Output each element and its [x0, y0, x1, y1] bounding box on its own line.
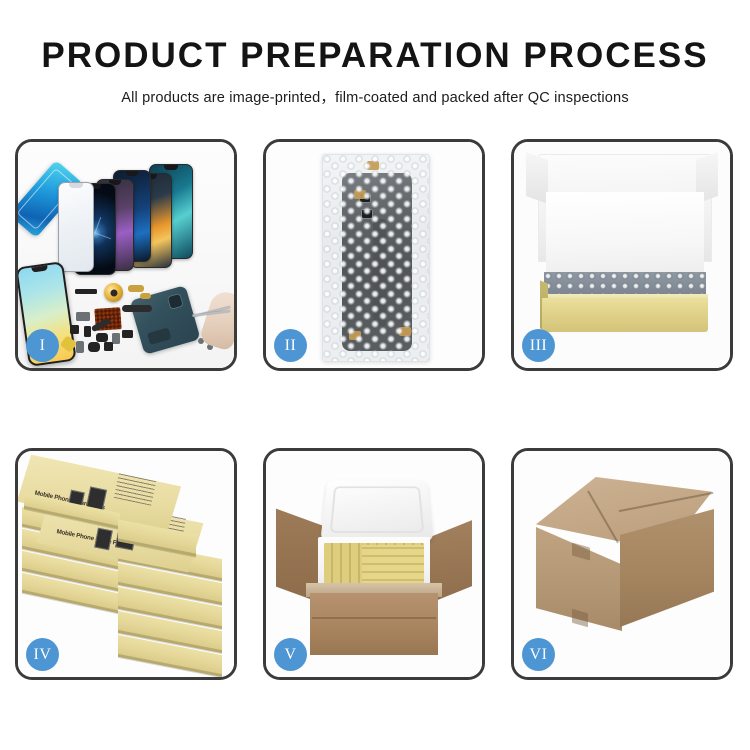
process-step-4[interactable]: Mobile Phone Spare Parts Mobile Phone Sp…: [15, 448, 237, 680]
spare-part: [122, 305, 152, 312]
step-badge-3: III: [522, 329, 555, 362]
foam-insert: [546, 192, 704, 276]
step-badge-1: I: [26, 329, 59, 362]
spare-part: [76, 341, 84, 353]
spare-part: [112, 333, 120, 344]
process-step-2[interactable]: II: [263, 139, 485, 371]
gold-coil-part: [104, 283, 123, 302]
spare-part: [76, 312, 90, 321]
page-header: PRODUCT PREPARATION PROCESS All products…: [0, 0, 750, 107]
spare-part: [70, 325, 79, 334]
spare-part: [128, 285, 144, 292]
step-badge-2: II: [274, 329, 307, 362]
tweezers-icon: [190, 298, 232, 332]
process-step-1[interactable]: I: [15, 139, 237, 371]
page-title: PRODUCT PREPARATION PROCESS: [0, 38, 750, 75]
box-flap-left: [526, 152, 548, 204]
carton-seam: [312, 617, 436, 619]
process-step-5[interactable]: V: [263, 448, 485, 680]
process-step-3[interactable]: III: [511, 139, 733, 371]
bubble-texture: [323, 155, 429, 361]
kraft-inner-box: [542, 298, 708, 332]
page-subtitle: All products are image-printed，film-coat…: [0, 86, 750, 107]
process-step-6[interactable]: VI: [511, 448, 733, 680]
yellow-retail-boxes: [362, 545, 424, 587]
step-badge-4: IV: [26, 638, 59, 671]
step-badge-6: VI: [522, 638, 555, 671]
spare-part: [104, 342, 113, 351]
bubble-wrap-bag: [322, 154, 430, 362]
spare-part: [88, 342, 100, 352]
step-badge-5: V: [274, 638, 307, 671]
spare-part: [84, 326, 91, 337]
process-step-grid: I II: [15, 139, 737, 680]
spare-part: [122, 330, 133, 338]
styrofoam-lid: [320, 480, 433, 541]
spare-part: [75, 289, 97, 294]
spare-part: [140, 293, 151, 299]
cardboard-carton: [310, 593, 438, 655]
spare-part: [96, 333, 108, 342]
glass-screen-protector: [58, 182, 94, 272]
